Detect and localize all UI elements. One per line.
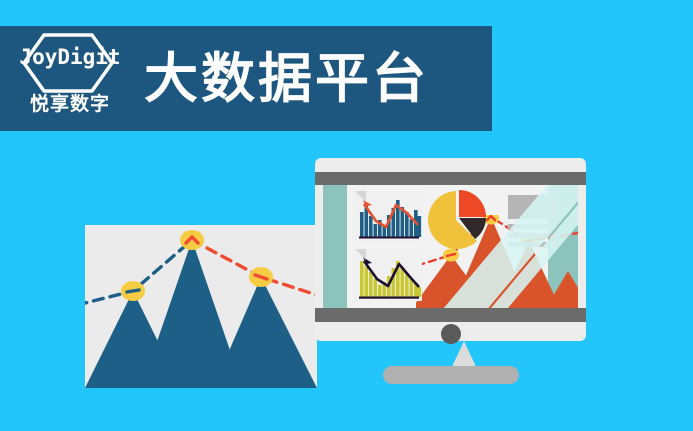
- content-placeholder-block: [508, 195, 557, 247]
- brand-logo: JoyDigit 悦享数字: [14, 31, 126, 127]
- desktop-monitor: [315, 158, 586, 341]
- monitor-bezel-bottom: [315, 308, 586, 322]
- monitor-base: [383, 366, 519, 384]
- pie-slice-red: [459, 190, 486, 217]
- header-banner: JoyDigit 悦享数字 大数据平台: [0, 26, 492, 131]
- trend-line-red: [192, 240, 317, 297]
- screen-accent-band-left: [323, 185, 347, 308]
- monitor-screen: [323, 185, 578, 308]
- yellow-bar-chart-card: [355, 249, 422, 301]
- folded-corner-icon: [355, 191, 366, 202]
- mountain-line-chart-panel: [85, 225, 317, 388]
- placeholder-bar-large: [508, 195, 557, 219]
- monitor-bezel-top: [315, 172, 586, 185]
- data-marker: [180, 230, 204, 250]
- mountain-peak-right: [213, 277, 317, 388]
- placeholder-bar: [508, 242, 557, 247]
- pie-chart: [427, 189, 489, 251]
- marker-dash: [127, 290, 139, 292]
- poster-canvas: JoyDigit 悦享数字 大数据平台: [0, 0, 693, 431]
- logo-wordmark: JoyDigit: [14, 47, 126, 68]
- left-mountain-chart: [85, 225, 317, 388]
- folded-corner-icon: [355, 249, 366, 260]
- placeholder-bar: [508, 233, 557, 238]
- blue-bar-chart-card: [355, 191, 422, 241]
- page-title: 大数据平台: [144, 52, 429, 106]
- logo-subtext: 悦享数字: [14, 95, 126, 114]
- placeholder-bar: [508, 224, 557, 229]
